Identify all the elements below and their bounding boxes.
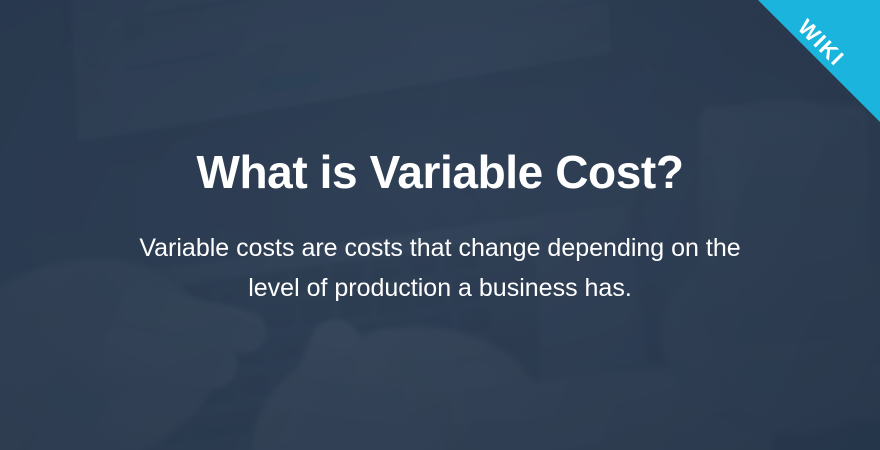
page-title: What is Variable Cost?	[196, 148, 683, 198]
subtitle-line-2: level of production a business has.	[248, 274, 632, 302]
ribbon-triangle	[758, 0, 880, 122]
hero-content: What is Variable Cost? Variable costs ar…	[0, 0, 880, 450]
page-subtitle: Variable costs are costs that change dep…	[139, 228, 740, 308]
subtitle-line-1: Variable costs are costs that change dep…	[139, 234, 740, 262]
wiki-corner-ribbon[interactable]: WIKI	[758, 0, 880, 122]
wiki-hero-banner: WIKI What is Variable Cost? Variable cos…	[0, 0, 880, 450]
